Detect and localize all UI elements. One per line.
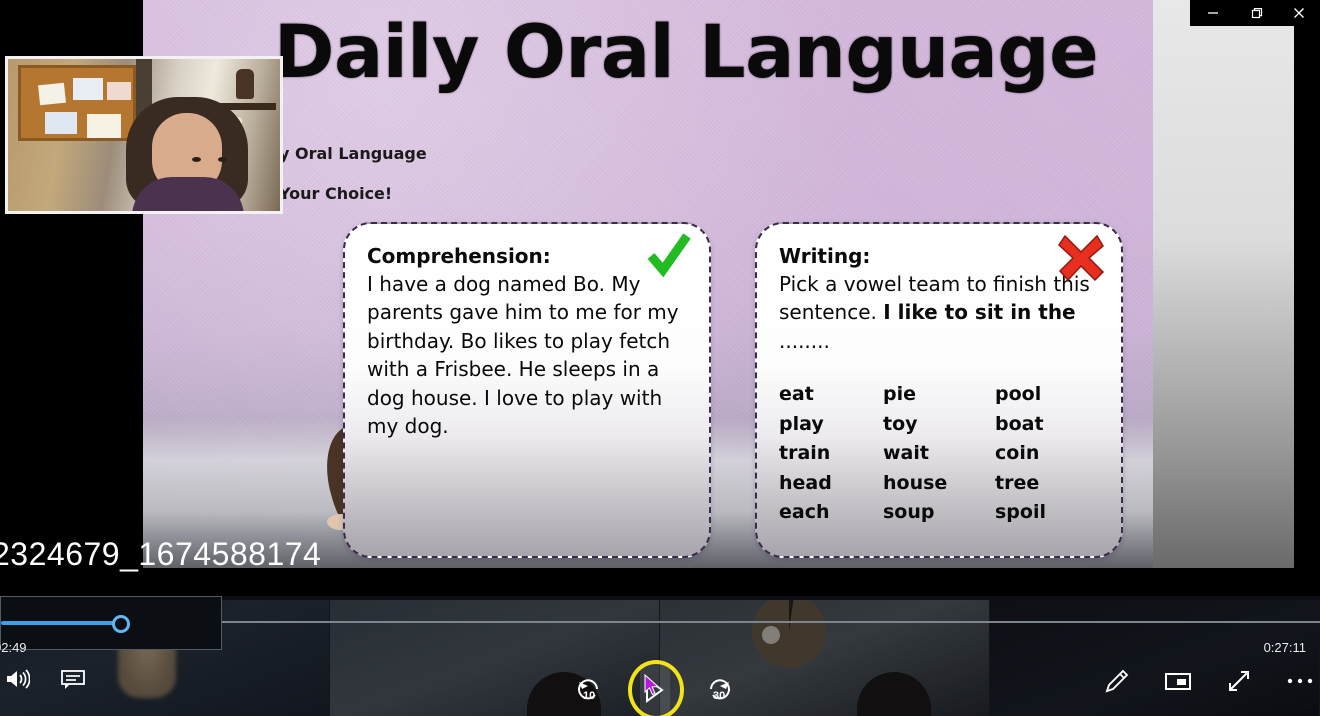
- subtitles-icon[interactable]: [60, 668, 86, 690]
- presenter-webcam[interactable]: [5, 56, 283, 214]
- minimize-button[interactable]: [1191, 0, 1234, 26]
- seek-progress-fill: [1, 621, 121, 625]
- comprehension-heading: Comprehension:: [367, 244, 687, 268]
- presenter-figure: [126, 97, 248, 214]
- word-cell: pie: [879, 381, 989, 409]
- writing-blank-dots: ........: [779, 329, 830, 353]
- writing-heading: Writing:: [779, 244, 1099, 268]
- word-cell: tree: [989, 470, 1099, 498]
- more-options-icon[interactable]: [1286, 677, 1314, 685]
- duration-label: 0:27:11: [1264, 640, 1306, 655]
- word-cell: head: [779, 470, 879, 498]
- word-cell: toy: [879, 411, 989, 439]
- pinned-note: [87, 114, 121, 138]
- letterbox-panel: [1152, 0, 1294, 568]
- rewind-seconds-label: 10: [583, 690, 595, 702]
- word-cell: boat: [989, 411, 1099, 439]
- rewind-10-button[interactable]: 10: [574, 675, 604, 705]
- corkboard: [18, 65, 136, 141]
- video-stage[interactable]: Daily Oral Language y Oral Language Your…: [0, 0, 1320, 596]
- word-cell: eat: [779, 381, 879, 409]
- seek-thumb[interactable]: [112, 615, 130, 633]
- vowel-team-word-list: eat pie pool play toy boat train wait co…: [779, 381, 1099, 527]
- word-cell: pool: [989, 381, 1099, 409]
- comprehension-card: Comprehension: I have a dog named Bo. My…: [343, 222, 711, 558]
- fullscreen-icon[interactable]: [1226, 668, 1252, 694]
- word-cell: play: [779, 411, 879, 439]
- word-cell: coin: [989, 440, 1099, 468]
- pinned-note: [73, 78, 103, 100]
- word-cell: wait: [879, 440, 989, 468]
- left-control-group: [4, 668, 86, 690]
- slide-subtitle-2: Your Choice!: [279, 184, 392, 203]
- green-check-icon: [643, 230, 695, 282]
- seek-focus-box[interactable]: [0, 596, 222, 650]
- video-player-window: Daily Oral Language y Oral Language Your…: [0, 0, 1320, 716]
- mouse-cursor: [644, 674, 660, 696]
- picture-in-picture-icon[interactable]: [1164, 670, 1192, 692]
- current-time-label: 02:49: [0, 640, 27, 655]
- slide-subtitle-1: y Oral Language: [279, 144, 427, 163]
- close-button[interactable]: [1277, 0, 1320, 26]
- word-cell: spoil: [989, 499, 1099, 527]
- forward-30-button[interactable]: 30: [704, 675, 734, 705]
- vase: [236, 69, 254, 99]
- red-x-icon: [1055, 230, 1107, 282]
- presentation-slide: Daily Oral Language y Oral Language Your…: [143, 0, 1153, 568]
- restore-button[interactable]: [1234, 0, 1277, 26]
- word-cell: house: [879, 470, 989, 498]
- writing-sentence: I like to sit in the: [883, 300, 1075, 324]
- volume-icon[interactable]: [4, 668, 30, 690]
- comprehension-body: I have a dog named Bo. My parents gave h…: [367, 270, 687, 440]
- word-cell: soup: [879, 499, 989, 527]
- slide-title: Daily Oral Language: [271, 16, 1101, 90]
- eye: [218, 157, 227, 162]
- right-control-group: [1104, 668, 1314, 694]
- forward-seconds-label: 30: [713, 690, 725, 702]
- pinned-note: [38, 83, 66, 106]
- word-cell: train: [779, 440, 879, 468]
- filename-overlay: 2324679_1674588174: [0, 536, 321, 573]
- eye: [192, 157, 201, 162]
- pinned-note: [45, 112, 77, 134]
- word-cell: each: [779, 499, 879, 527]
- pen-icon[interactable]: [1104, 668, 1130, 694]
- writing-body: Pick a vowel team to finish this sentenc…: [779, 270, 1099, 355]
- window-controls: [1190, 0, 1320, 26]
- writing-card: Writing: Pick a vowel team to finish thi…: [755, 222, 1123, 558]
